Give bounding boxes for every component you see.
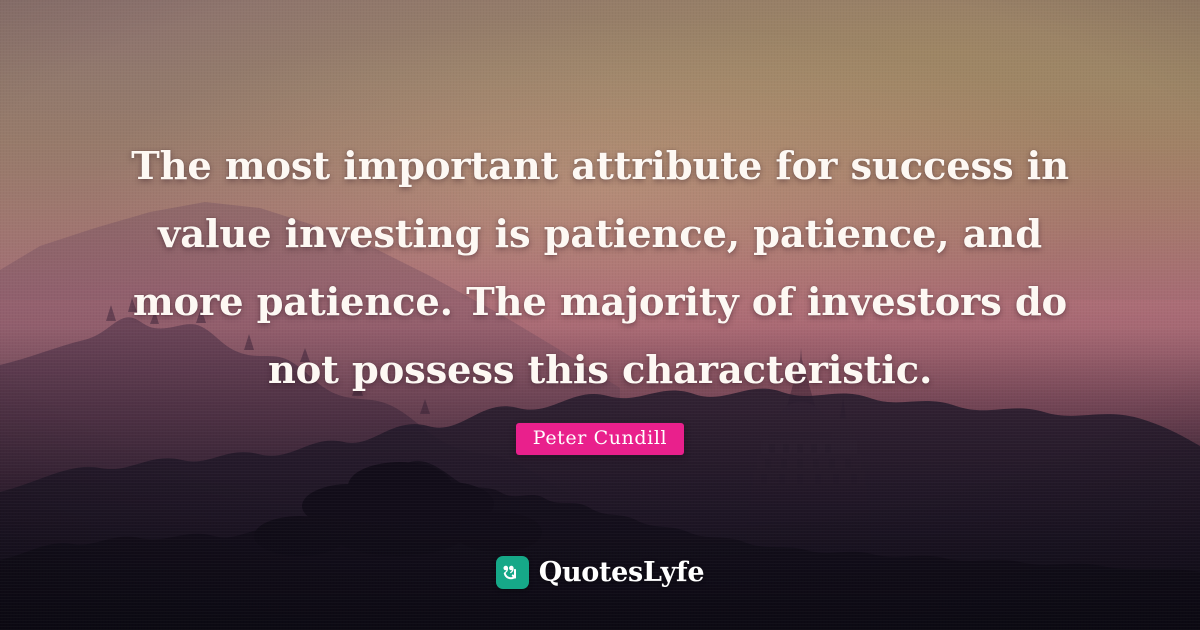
brand-logo[interactable]: QuotesLyfe — [0, 556, 1200, 589]
quote-card: The most important attribute for success… — [0, 0, 1200, 630]
quote-line: The most important attribute for success… — [120, 133, 1080, 201]
quote-line: value investing is patience, patience, a… — [120, 201, 1080, 269]
card-content: The most important attribute for success… — [0, 0, 1200, 630]
author-name-badge[interactable]: Peter Cundill — [516, 423, 684, 455]
brand-name: QuotesLyfe — [539, 557, 705, 588]
quote-line: more patience. The majority of investors… — [120, 269, 1080, 337]
quote-line: not possess this characteristic. — [120, 337, 1080, 405]
quote-mark-icon — [496, 556, 529, 589]
quote-text-block: The most important attribute for success… — [120, 133, 1080, 455]
